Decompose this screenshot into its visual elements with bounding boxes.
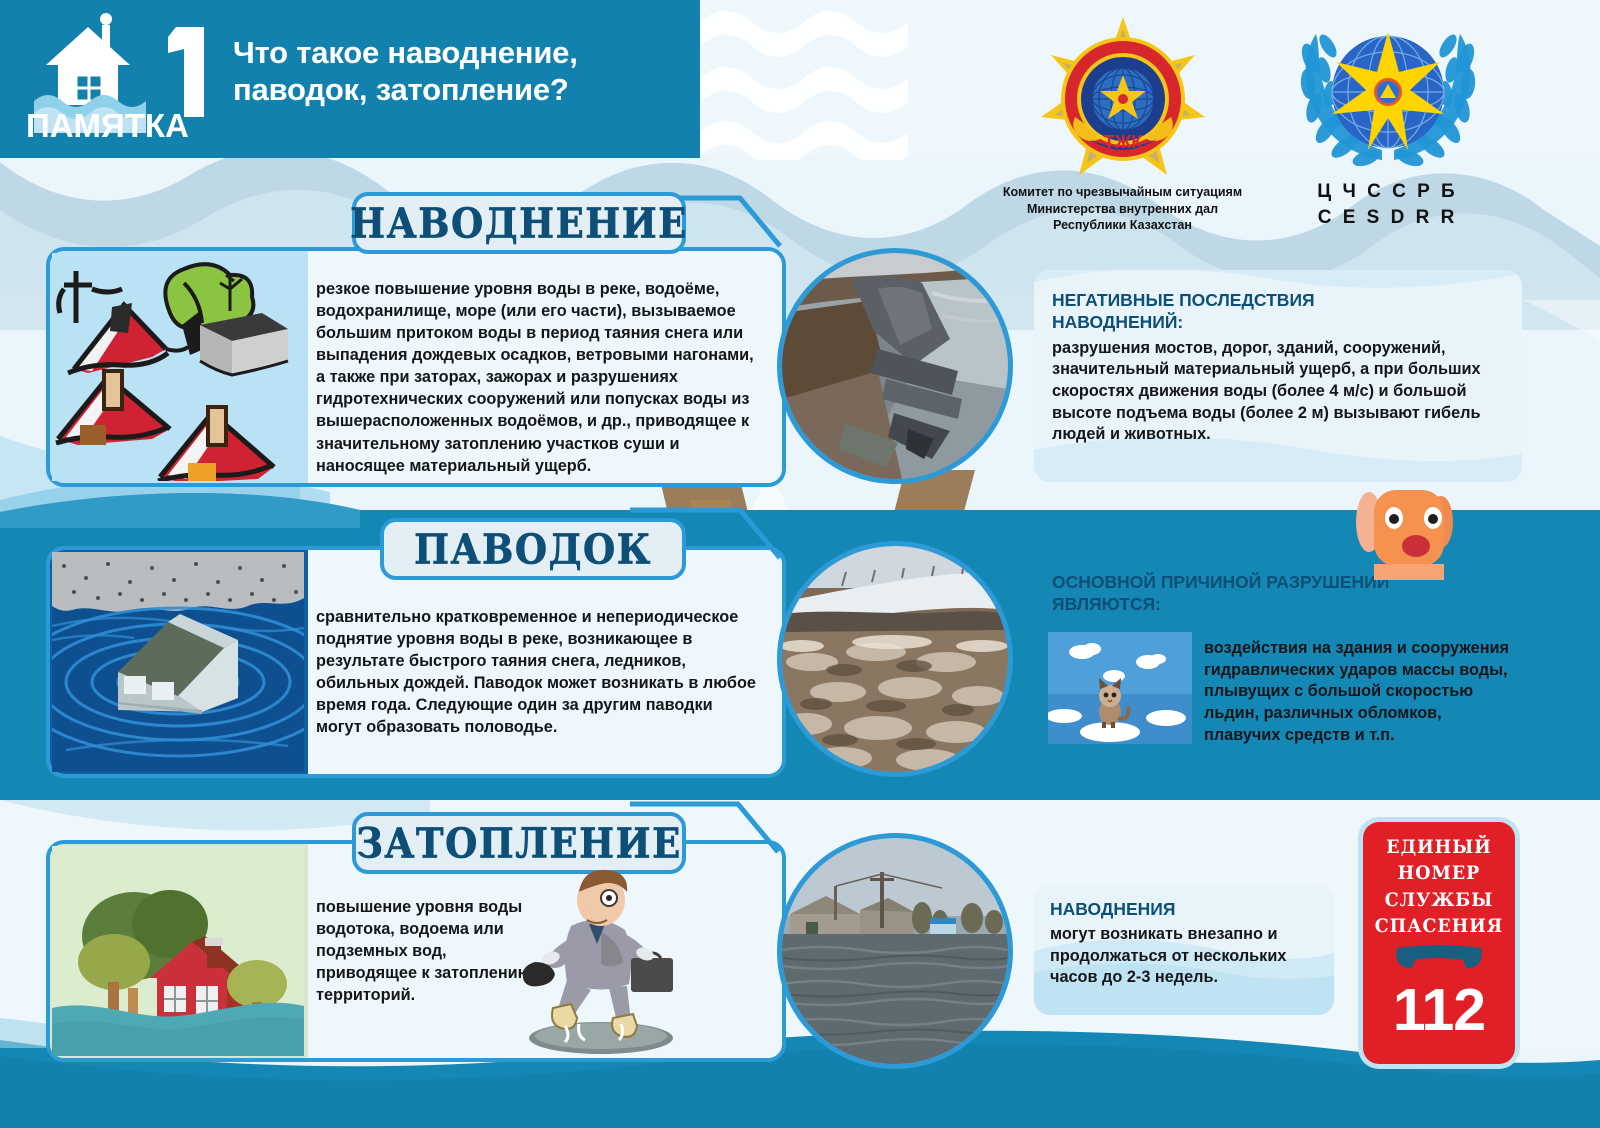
causes-text: воздействия на здания и сооружения гидра… [1204,638,1516,746]
kz-emblem-text: ТЖК [1103,132,1143,152]
memo-label: ПАМЯТКА [26,107,226,145]
flooded-village-photo [777,833,1013,1069]
cat-on-ice-floe-illustration [1048,632,1192,744]
consequences-title: НЕГАТИВНЫЕ ПОСЛЕДСТВИЯ НАВОДНЕНИЙ: [1052,290,1506,334]
businessman-in-flood-illustration [505,862,685,1062]
note-text: могут возникать внезапно и продолжаться … [1050,924,1322,989]
flooded-house-with-trees-illustration [52,846,304,1056]
emergency-badge-lines: ЕДИНЫЙ НОМЕР СЛУЖБЫ СПАСЕНИЯ [1363,822,1515,940]
emergency-line-2: НОМЕР [1363,861,1515,889]
washed-out-road-photo [777,248,1013,484]
consequences-title-line2: НАВОДНЕНИЙ: [1052,312,1506,334]
kz-emblem-icon: ТЖК [1033,14,1213,184]
zatoplenie-note-box: НАВОДНЕНИЯ могут возникать внезапно и пр… [1034,885,1334,1015]
kz-caption-line2: Министерства внутренних дал [1000,201,1245,218]
navodnenie-ribbon-label: НАВОДНЕНИЕ [350,198,688,247]
consequences-title-line1: НЕГАТИВНЫЕ ПОСЛЕДСТВИЯ [1052,290,1506,312]
causes-title-line2: ЯВЛЯЮТСЯ: [1052,594,1512,616]
organization-logos: ТЖК Комитет по чрезвычайным ситуациям Ми… [1000,14,1520,249]
pavodok-ribbon: ПАВОДОК [380,518,686,580]
cesdrr-emblem-icon [1293,14,1483,179]
cesdrr-ru-label: Ц Ч С С Р Б [1265,179,1510,205]
kz-emergency-committee-logo-block: ТЖК Комитет по чрезвычайным ситуациям Ми… [1000,14,1245,249]
house-in-rain-flood-illustration [52,552,304,772]
emergency-number-badge[interactable]: ЕДИНЫЙ НОМЕР СЛУЖБЫ СПАСЕНИЯ 112 [1363,822,1515,1064]
emergency-line-3: СЛУЖБЫ [1363,887,1515,915]
page-title-line1: Что такое наводнение, [233,35,578,72]
cesdrr-caption: Ц Ч С С Р Б C E S D R R [1265,179,1510,230]
zatoplenie-ribbon-label: ЗАТОПЛЕНИЕ [356,818,682,867]
emergency-line-1: ЕДИНЫЙ [1363,834,1515,862]
cesdrr-logo-block: Ц Ч С С Р Б C E S D R R [1265,14,1510,249]
phone-handset-icon [1393,944,1485,974]
memo-badge: ПАМЯТКА [26,9,221,149]
dog-mascot-icon [1336,478,1458,586]
zatoplenie-definition: повышение уровня воды водотока, водоема … [316,896,536,1006]
raging-river-photo [777,541,1013,777]
emergency-line-4: СПАСЕНИЯ [1363,913,1515,941]
page-title: Что такое наводнение, паводок, затоплени… [233,35,578,108]
cesdrr-en-label: C E S D R R [1265,205,1510,231]
kz-caption-line3: Республики Казахстан [1000,217,1245,234]
kz-caption-line1: Комитет по чрезвычайным ситуациям [1000,184,1245,201]
note-title: НАВОДНЕНИЯ [1050,899,1322,921]
page-title-line2: паводок, затопление? [233,72,578,109]
header-wave-decoration [700,0,920,160]
poster-header: ПАМЯТКА Что такое наводнение, паводок, з… [0,0,700,158]
navodnenie-consequences-box: НЕГАТИВНЫЕ ПОСЛЕДСТВИЯ НАВОДНЕНИЙ: разру… [1034,270,1522,482]
pavodok-ribbon-label: ПАВОДОК [414,524,652,573]
consequences-text: разрушения мостов, дорог, зданий, сооруж… [1052,338,1506,446]
navodnenie-ribbon: НАВОДНЕНИЕ [352,192,686,254]
submerged-rooftops-illustration [52,253,304,481]
pavodok-causes-box: ОСНОВНОЙ ПРИЧИНОЙ РАЗРУШЕНИЙ ЯВЛЯЮТСЯ: [1034,556,1522,762]
emergency-number: 112 [1363,981,1515,1040]
infographic-poster: ПАМЯТКА Что такое наводнение, паводок, з… [0,0,1600,1128]
kz-logo-caption: Комитет по чрезвычайным ситуациям Минист… [1000,184,1245,234]
